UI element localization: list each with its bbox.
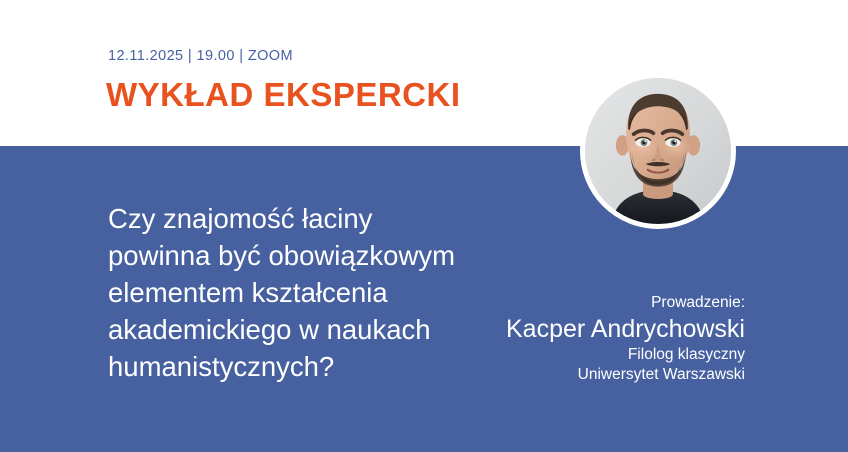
speaker-lead-label: Prowadzenie: bbox=[506, 292, 745, 313]
speaker-avatar bbox=[580, 73, 736, 229]
question-line-1: Czy znajomość łaciny bbox=[108, 200, 528, 237]
lecture-question: Czy znajomość łaciny powinna być obowiąz… bbox=[108, 200, 528, 385]
question-line-4: akademickiego w naukach bbox=[108, 311, 528, 348]
event-datetime-platform: 12.11.2025 | 19.00 | ZOOM bbox=[108, 48, 293, 64]
question-line-3: elementem kształcenia bbox=[108, 274, 528, 311]
page-title: WYKŁAD EKSPERCKI bbox=[106, 78, 461, 111]
event-poster: 12.11.2025 | 19.00 | ZOOM WYKŁAD EKSPERC… bbox=[0, 0, 848, 452]
speaker-credits: Prowadzenie: Kacper Andrychowski Filolog… bbox=[506, 292, 745, 385]
speaker-name: Kacper Andrychowski bbox=[506, 314, 745, 345]
speaker-role: Filolog klasyczny bbox=[506, 345, 745, 365]
speaker-organization: Uniwersytet Warszawski bbox=[506, 365, 745, 385]
question-line-2: powinna być obowiązkowym bbox=[108, 237, 528, 274]
portrait-photo-icon bbox=[585, 78, 731, 224]
question-line-5: humanistycznych? bbox=[108, 348, 528, 385]
